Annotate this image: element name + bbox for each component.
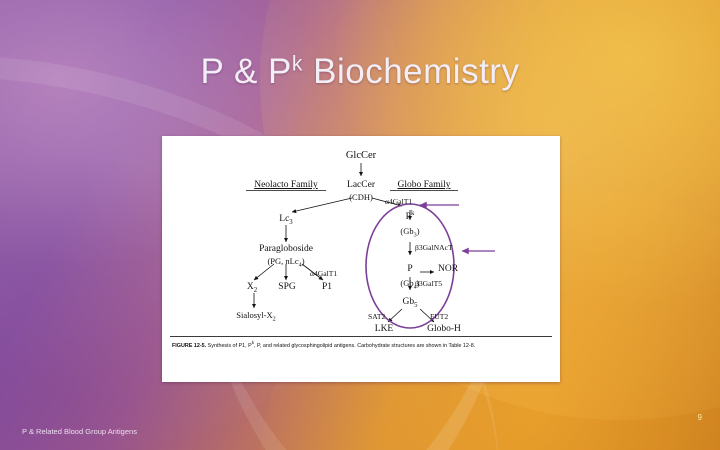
figure-image: GlcCer Neolacto Family Globo Family LacC…: [162, 136, 560, 382]
node-gb5: Gb5: [402, 297, 417, 307]
caption-text-1: Synthesis of P1, P: [206, 343, 252, 349]
enzyme-a4galt1-top: α4GalT1: [385, 197, 412, 206]
caption-text-2: , P, and related glycosphingolipid antig…: [254, 343, 475, 349]
title-main: P & P: [201, 52, 292, 91]
slide: P & Pk Biochemistry: [0, 0, 720, 450]
node-spg: SPG: [278, 282, 295, 292]
page-title: P & Pk Biochemistry: [60, 52, 660, 92]
node-pk: Pk: [406, 212, 415, 222]
node-nor: NOR: [438, 264, 458, 274]
caption-divider: [170, 336, 552, 337]
node-glccer: GlcCer: [346, 150, 376, 161]
node-p: P: [407, 264, 412, 274]
node-laccer: LacCer: [347, 180, 375, 190]
enzyme-sat2: SAT2: [368, 312, 385, 321]
title-superscript: k: [292, 52, 303, 75]
label-neolacto-family: Neolacto Family: [254, 180, 318, 190]
enzyme-a4galt1-p1: α4GalT1: [310, 269, 337, 278]
node-globo-h: Globo-H: [427, 324, 461, 334]
node-paragloboside-alt: (PG, nLc4): [267, 256, 304, 266]
node-paragloboside: Paragloboside: [259, 244, 313, 254]
caption-label: FIGURE 12-5.: [172, 343, 206, 349]
node-x2: X2: [247, 282, 257, 292]
enzyme-b3galnact: β3GalNAcT: [415, 243, 453, 252]
node-lke: LKE: [375, 324, 393, 334]
label-globo-family: Globo Family: [397, 180, 450, 190]
enzyme-fut2: FUT2: [430, 312, 448, 321]
node-sialosyl-x2: Sialosyl-X2: [236, 310, 275, 320]
node-cdh: (CDH): [349, 192, 373, 202]
node-gb3: (Gb3): [400, 226, 419, 236]
title-rest: Biochemistry: [303, 52, 520, 91]
node-p1: P1: [322, 282, 332, 292]
slide-page-number: 9: [698, 413, 702, 422]
figure-caption: FIGURE 12-5. Synthesis of P1, Pk, P, and…: [172, 340, 550, 351]
node-lc3: Lc3: [279, 214, 292, 224]
slide-footer: P & Related Blood Group Antigens: [22, 427, 137, 436]
figure-diagram: GlcCer Neolacto Family Globo Family LacC…: [162, 136, 560, 382]
enzyme-b3galt5: β3GalT5: [415, 279, 442, 288]
